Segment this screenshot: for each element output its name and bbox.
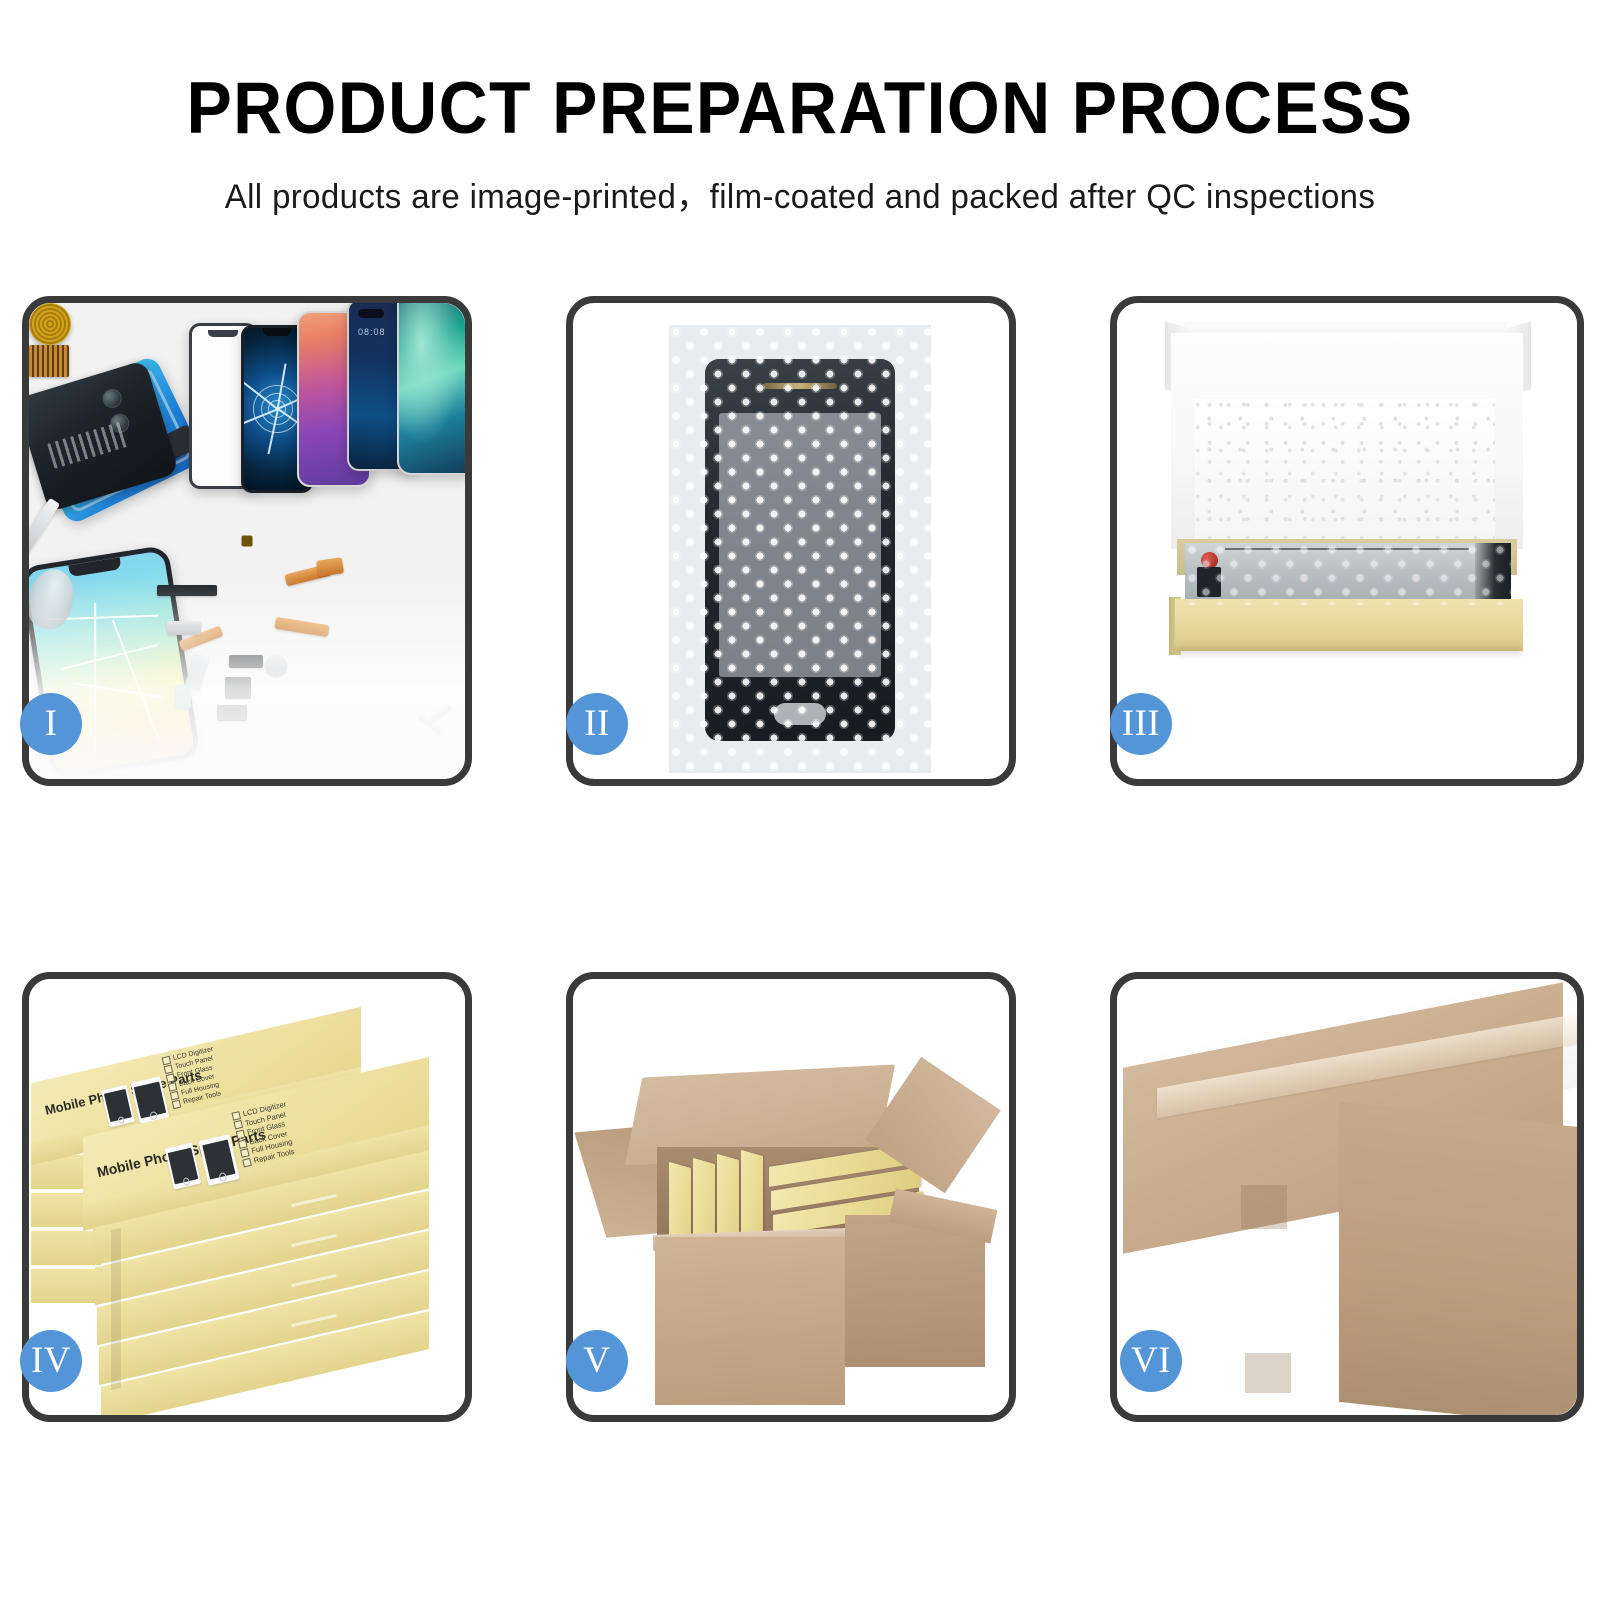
step-badge-6: VI [1120, 1330, 1182, 1392]
box-stack-layer [31, 1269, 101, 1303]
metal-bracket [167, 621, 201, 635]
page-subtitle: All products are image-printed，film-coat… [24, 145, 1576, 218]
step-panel-3 [1110, 296, 1584, 786]
page-header: PRODUCT PREPARATION PROCESS All products… [0, 0, 1600, 218]
page-title: PRODUCT PREPARATION PROCESS [56, 0, 1544, 145]
step-4-image: Mobile Phone Spare Parts LCD Digitizer T… [29, 979, 465, 1415]
step-2-image [573, 303, 1009, 779]
speaker-driver [265, 655, 287, 677]
notch-cutout [208, 330, 238, 337]
step-badge-2: II [566, 693, 628, 755]
battery-label [47, 421, 129, 469]
crack-line [60, 644, 158, 670]
stacked-gold-boxes-scene: Mobile Phone Spare Parts LCD Digitizer T… [29, 979, 465, 1415]
crack-line [73, 682, 162, 698]
notch-cutout [68, 557, 121, 577]
crack-line [47, 615, 159, 621]
metal-bracket [185, 653, 210, 690]
speaker-module [157, 585, 217, 596]
sim-tray [175, 685, 191, 709]
stack-seam [111, 1228, 121, 1390]
flex-cable [274, 617, 329, 637]
ic-chip-grid [29, 345, 69, 377]
ic-chip [229, 655, 263, 668]
step-badge-1: I [20, 693, 82, 755]
vibration-motor [225, 677, 251, 699]
checkbox-icon [172, 1100, 182, 1110]
box-stack-layer [31, 1231, 101, 1265]
step-panel-4: Mobile Phone Spare Parts LCD Digitizer T… [22, 972, 472, 1422]
step-6-image [1117, 979, 1577, 1415]
checkbox-icon [242, 1158, 252, 1168]
camera-lens [100, 387, 124, 411]
step-1-image: 08:08 [29, 303, 465, 779]
box-tray-front [1175, 599, 1523, 651]
crack-line [112, 620, 160, 742]
step-3-image [1117, 303, 1577, 779]
step-badge-4: IV [20, 1330, 82, 1392]
parts-collage-scene: 08:08 [29, 303, 465, 779]
foam-liner [1195, 399, 1495, 551]
status-clock: 08:08 [358, 327, 386, 337]
step-panel-5 [566, 972, 1016, 1422]
bubble-film-texture [669, 325, 931, 773]
flex-connector [316, 557, 344, 576]
step-panel-1: 08:08 [22, 296, 472, 786]
step-badge-3: III [1110, 693, 1172, 755]
carton-side-face [1339, 1102, 1577, 1415]
camera-pill [358, 309, 384, 318]
wireless-charging-coil [29, 303, 71, 345]
box-shadow [1177, 647, 1521, 656]
step-badge-5: V [566, 1330, 628, 1392]
bubble-film-texture [1185, 543, 1511, 605]
flex-cable [178, 625, 223, 651]
notch-cutout [263, 328, 291, 336]
carton-front-wall [655, 1237, 845, 1405]
open-carton-scene [573, 979, 1009, 1415]
screwdriver-bit [424, 703, 453, 726]
repair-tool [29, 498, 60, 567]
carton-seam-tab [1245, 1353, 1291, 1393]
camera-module [217, 705, 247, 721]
bubble-wrapped-screen-scene [669, 325, 931, 773]
step-panel-2 [566, 296, 1016, 786]
screwdriver-bit [418, 713, 446, 737]
sealed-carton-scene [1117, 979, 1577, 1415]
step-5-image [573, 979, 1009, 1415]
crack-line [94, 603, 96, 753]
teal-display-phone [397, 303, 465, 475]
carton-seam-tab [1241, 1185, 1287, 1229]
open-inner-box-scene [1117, 303, 1577, 779]
